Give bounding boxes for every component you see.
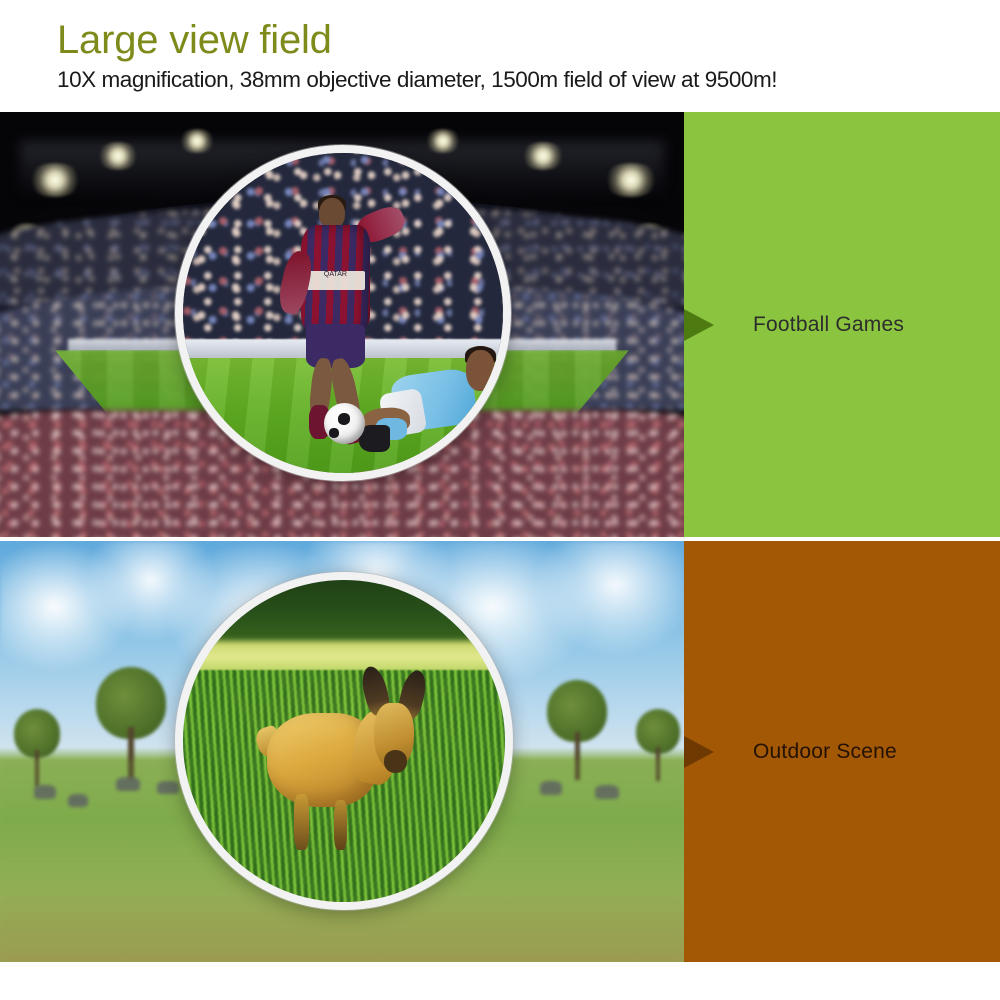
magnified-view-circle-outdoor	[175, 572, 513, 910]
scene-savanna	[0, 541, 684, 962]
deer-leg	[334, 800, 347, 850]
page-title: Large view field	[57, 0, 1000, 61]
arrow-right-icon	[684, 736, 714, 768]
defender-head	[466, 350, 494, 391]
page-subtitle: 10X magnification, 38mm objective diamet…	[57, 61, 1000, 93]
player-sliding-tackle	[362, 345, 503, 467]
header: Large view field 10X magnification, 38mm…	[0, 0, 1000, 112]
arrow-right-icon	[684, 309, 714, 341]
floodlight-icon	[27, 163, 83, 197]
lens-content-outdoor	[183, 580, 505, 902]
jersey-sponsor-text: QATAR	[306, 271, 365, 290]
floodlight-icon	[602, 163, 660, 197]
label-panel-outdoor: Outdoor Scene	[684, 541, 1000, 962]
deer-snout	[384, 750, 407, 773]
label-panel-football: Football Games	[684, 112, 1000, 537]
floodlight-icon	[520, 142, 566, 170]
feature-panels: QATAR	[0, 112, 1000, 962]
label-outdoor-scene: Outdoor Scene	[753, 740, 897, 764]
deer	[267, 683, 434, 850]
magnified-view-circle-football: QATAR	[175, 145, 511, 481]
feature-row-outdoor: Outdoor Scene	[0, 541, 1000, 962]
lens-content-football: QATAR	[183, 153, 503, 473]
floodlight-icon	[178, 129, 216, 153]
feature-row-football: QATAR	[0, 112, 1000, 537]
deer-leg	[294, 794, 309, 851]
footer-whitespace	[0, 962, 1000, 1000]
label-football-games: Football Games	[753, 313, 904, 337]
product-feature-page: Large view field 10X magnification, 38mm…	[0, 0, 1000, 1000]
scene-football-stadium: QATAR	[0, 112, 684, 537]
floodlight-icon	[424, 129, 462, 153]
floodlight-icon	[96, 142, 140, 170]
